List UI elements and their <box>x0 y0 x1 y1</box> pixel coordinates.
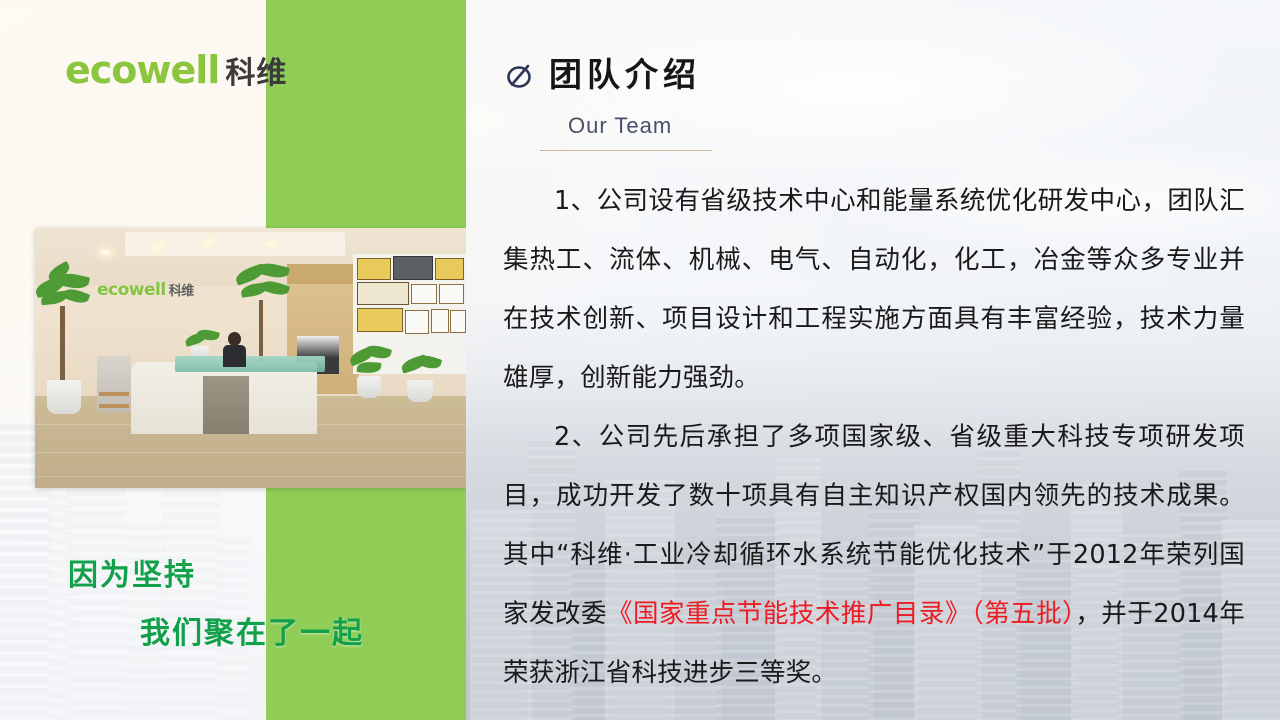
left-panel: ecowell 科维 ecowell科维 <box>0 0 466 720</box>
section-header: 团队介绍 <box>505 58 701 91</box>
office-reception-photo: ecowell科维 <box>35 228 466 488</box>
body-content: 1、公司设有省级技术中心和能量系统优化研发中心，团队汇集热工、流体、机械、电气、… <box>503 172 1245 703</box>
paragraph-2-lead: 2、公司先后承担了多项国家级、省级重大科技专项研发项目，成功开发了数十项具有自主… <box>503 422 1245 629</box>
paragraph-2-catalog-highlight: 《国家重点节能技术推广目录》（第五批） <box>607 599 1075 629</box>
logo-latin-text: ecowell <box>65 48 219 92</box>
magazine-shelf <box>97 356 131 412</box>
photo-wall-sign: ecowell科维 <box>97 280 194 300</box>
page-title: 团队介绍 <box>549 58 701 91</box>
company-logo: ecowell 科维 <box>65 48 287 92</box>
paragraph-1: 1、公司设有省级技术中心和能量系统优化研发中心，团队汇集热工、流体、机械、电气、… <box>503 172 1245 408</box>
title-divider <box>540 150 712 151</box>
slogan-line-1: 因为坚持 <box>68 550 196 594</box>
page-subtitle: Our Team <box>568 113 672 139</box>
receptionist <box>223 332 246 366</box>
logo-chinese-text: 科维 <box>225 48 287 92</box>
diameter-slashed-circle-icon <box>505 60 535 90</box>
slogan-line-2: 我们聚在了一起 <box>140 608 364 652</box>
slide-root: ecowell 科维 ecowell科维 <box>0 0 1280 720</box>
paragraph-2: 2、公司先后承担了多项国家级、省级重大科技专项研发项目，成功开发了数十项具有自主… <box>503 408 1245 703</box>
